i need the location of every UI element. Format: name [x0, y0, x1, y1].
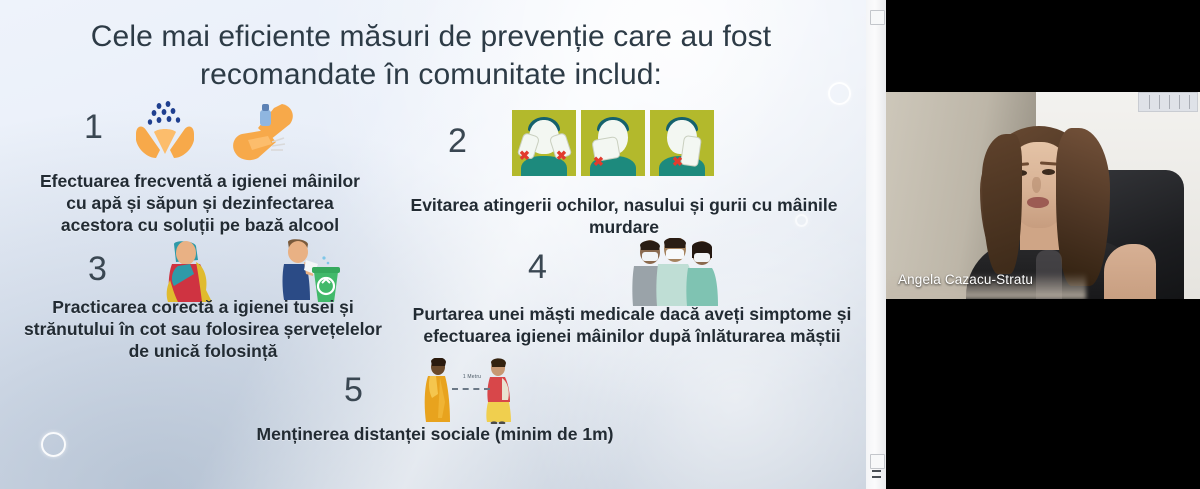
cough-into-elbow-icon	[160, 240, 220, 302]
people-wearing-masks-icon	[628, 238, 722, 306]
item-number-2: 2	[448, 124, 467, 158]
item-number-3: 3	[88, 252, 107, 286]
strip-tick-icon	[872, 470, 881, 472]
hand-sanitizer-icon	[228, 98, 300, 166]
page-title: Cele mai eficiente măsuri de prevenție c…	[26, 18, 836, 95]
participant-name-label: Angela Cazacu-Stratu	[898, 272, 1033, 287]
distance-label: 1 Metru	[454, 374, 490, 380]
social-distancing-icon: 1 Metru	[418, 358, 522, 424]
decorative-ring-icon	[41, 432, 66, 457]
tissue-in-bin-icon	[280, 238, 342, 304]
title-line-1: Cele mai eficiente măsuri de prevenție c…	[91, 20, 771, 53]
item-caption-5: Menținerea distanței sociale (minim de 1…	[200, 423, 670, 445]
item-number-1: 1	[84, 110, 103, 144]
item-caption-3: Practicarea corectă a igienei tusei și s…	[18, 296, 388, 363]
item-number-5: 5	[344, 373, 363, 407]
wall-panel-decor	[1138, 92, 1198, 112]
no-touch-eyes-icon: ✖ ✖	[512, 110, 576, 176]
no-touch-mouth-icon: ✖	[650, 110, 714, 176]
slide-canvas: Cele mai eficiente măsuri de prevenție c…	[0, 0, 866, 489]
distance-dashed-line	[452, 388, 490, 390]
item-caption-2: Evitarea atingerii ochilor, nasului și g…	[404, 194, 844, 238]
participant-video-panel[interactable]: Angela Cazacu-Stratu	[886, 0, 1200, 489]
strip-button-bottom-icon[interactable]	[870, 454, 885, 469]
strip-tick-icon	[872, 476, 881, 478]
shared-slide: Cele mai eficiente măsuri de prevenție c…	[0, 0, 866, 489]
video-feed: Angela Cazacu-Stratu	[886, 92, 1200, 299]
strip-button-top-icon[interactable]	[870, 10, 885, 25]
item-caption-1: Efectuarea frecventă a igienei mâinilor …	[30, 170, 370, 237]
item-caption-4: Purtarea unei măști medicale dacă aveți …	[412, 303, 852, 347]
meeting-screen: Cele mai eficiente măsuri de prevenție c…	[0, 0, 1200, 489]
no-touch-nose-icon: ✖	[581, 110, 645, 176]
title-line-2: recomandate în comunitate includ:	[26, 56, 836, 94]
washing-hands-icon	[130, 100, 200, 164]
item-number-4: 4	[528, 250, 547, 284]
no-touch-face-tiles: ✖ ✖ ✖ ✖	[512, 110, 714, 176]
app-side-strip	[866, 0, 886, 489]
